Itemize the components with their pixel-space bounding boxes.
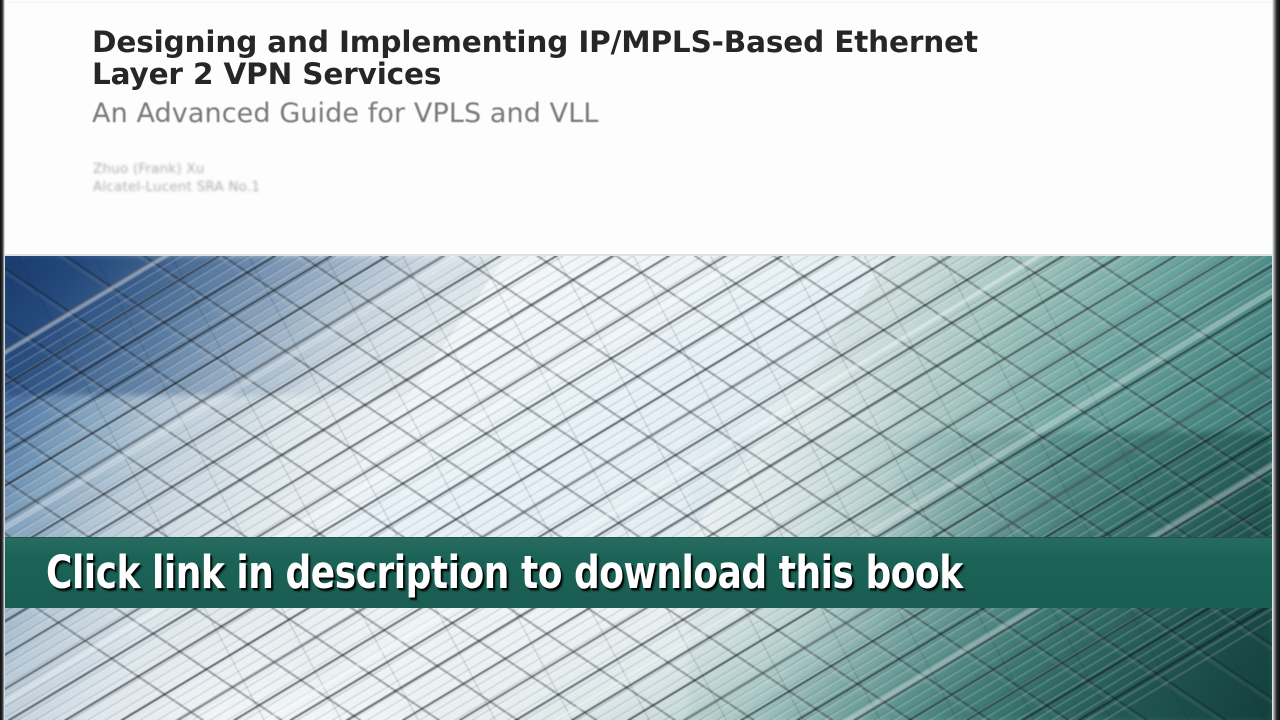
- author-name: Zhuo (Frank) Xu: [93, 160, 260, 178]
- book-cover-promo-image: Designing and Implementing IP/MPLS-Based…: [0, 0, 1280, 720]
- book-title: Designing and Implementing IP/MPLS-Based…: [92, 26, 1202, 90]
- download-cta-banner[interactable]: Click link in description to download th…: [0, 537, 1280, 608]
- cover-left-edge: [0, 0, 5, 720]
- cover-photograph: [4, 256, 1272, 720]
- author-affiliation: Alcatel-Lucent SRA No.1: [93, 178, 260, 196]
- book-subtitle: An Advanced Guide for VPLS and VLL: [92, 99, 1202, 129]
- cover-top-edge: [0, 0, 1280, 3]
- cover-title-panel: Designing and Implementing IP/MPLS-Based…: [4, 0, 1272, 256]
- cover-right-edge: [1272, 0, 1280, 720]
- author-block: Zhuo (Frank) Xu Alcatel-Lucent SRA No.1: [93, 160, 260, 196]
- title-block: Designing and Implementing IP/MPLS-Based…: [92, 26, 1202, 129]
- photo-softening-layer: [4, 256, 1272, 720]
- download-cta-text: Click link in description to download th…: [46, 550, 963, 595]
